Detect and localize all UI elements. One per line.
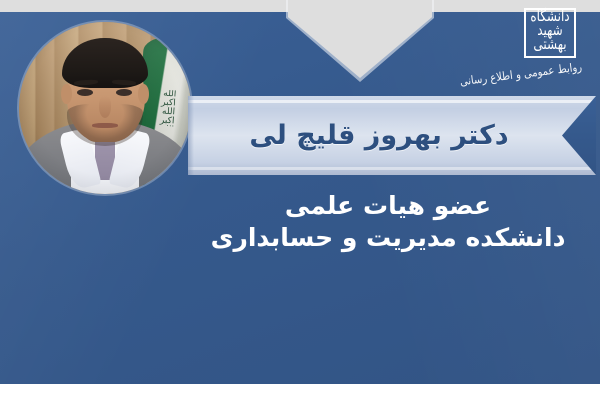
faculty-title: دانشکده مدیریت و حسابداری <box>180 222 596 254</box>
portrait-vignette <box>19 22 191 194</box>
person-name: دکتر بهروز قلیچ لی <box>188 96 596 175</box>
logo-public-relations-line: روابط عمومی و اطلاع رسانی <box>474 61 583 87</box>
title-block: عضو هیات علمی دانشکده مدیریت و حسابداری <box>180 190 596 254</box>
portrait-photo: الله اکبر الله اکبر الله اکبر <box>19 22 191 194</box>
bottom-white-band <box>0 384 600 400</box>
logo-line-3: بهشتی <box>527 37 573 52</box>
university-logo: دانشگاه شهید بهشتی روابط عمومی و اطلاع ر… <box>474 6 582 90</box>
name-ribbon: دکتر بهروز قلیچ لی <box>188 96 596 175</box>
position-title: عضو هیات علمی <box>180 190 596 222</box>
faculty-announcement-card: دانشگاه شهید بهشتی روابط عمومی و اطلاع ر… <box>0 0 600 400</box>
